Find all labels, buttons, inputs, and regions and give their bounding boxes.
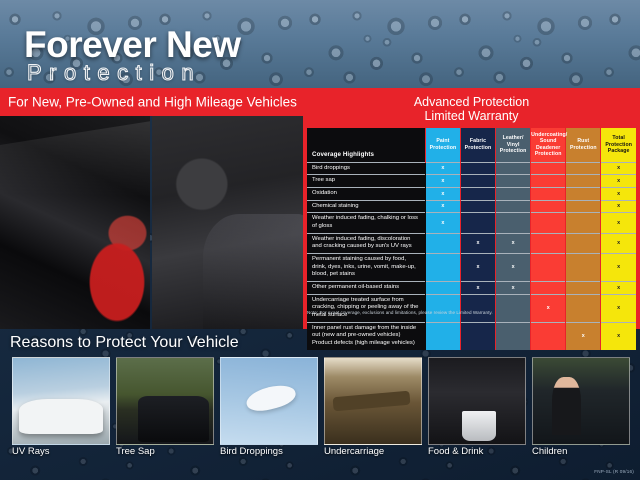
coverage-row-label: Permanent staining caused by food, drink… bbox=[307, 253, 425, 281]
col-header-rust-protection: Rust Protection bbox=[566, 128, 601, 162]
coverage-cell-fabric bbox=[460, 294, 495, 322]
coverage-cell-total: x bbox=[601, 187, 636, 200]
coverage-row: Tree sapxx bbox=[307, 175, 636, 188]
coverage-row-label: Tree sap bbox=[307, 175, 425, 188]
coverage-cell-fabric: x bbox=[460, 281, 495, 294]
coverage-cell-paint: x bbox=[425, 162, 460, 175]
coverage-row-label: Weather induced fading, chalking or loss… bbox=[307, 213, 425, 233]
coverage-row: Permanent staining caused by food, drink… bbox=[307, 253, 636, 281]
coverage-header-row: Coverage Highlights Paint Protection Fab… bbox=[307, 128, 636, 162]
col-header-leather-vinyl-protection: Leather/ Vinyl Protection bbox=[496, 128, 531, 162]
coverage-cell-paint: x bbox=[425, 200, 460, 213]
coverage-cell-under bbox=[531, 233, 566, 253]
coverage-cell-under bbox=[531, 187, 566, 200]
coverage-cell-rust bbox=[566, 175, 601, 188]
vehicle-photo-strip bbox=[0, 116, 303, 329]
coverage-cell-total: x bbox=[601, 175, 636, 188]
caption-children: Children bbox=[532, 446, 630, 462]
thumbnail-undercarriage bbox=[324, 357, 422, 445]
coverage-row-label: Chemical staining bbox=[307, 200, 425, 213]
warranty-note: Note: For exact coverage, exclusions and… bbox=[307, 310, 637, 315]
reasons-heading: Reasons to Protect Your Vehicle bbox=[10, 334, 239, 352]
coverage-table-body: Bird droppingsxxTree sapxxOxidationxxChe… bbox=[307, 162, 636, 350]
coverage-row-label: Bird droppings bbox=[307, 162, 425, 175]
coverage-cell-paint bbox=[425, 233, 460, 253]
caption-food-and-drink: Food & Drink bbox=[428, 446, 526, 462]
coverage-cell-leather bbox=[496, 187, 531, 200]
coverage-cell-fabric bbox=[460, 213, 495, 233]
coverage-table-head: Coverage Highlights Paint Protection Fab… bbox=[307, 128, 636, 162]
coverage-row-label: Undercarriage treated surface from crack… bbox=[307, 294, 425, 322]
coverage-cell-leather bbox=[496, 200, 531, 213]
thumbnail-bird-droppings bbox=[220, 357, 318, 445]
coverage-cell-paint bbox=[425, 294, 460, 322]
coverage-cell-rust bbox=[566, 294, 601, 322]
warranty-title: Advanced Protection Limited Warranty bbox=[307, 93, 636, 128]
coverage-row: Inner panel rust damage from the inside … bbox=[307, 322, 636, 350]
warranty-panel: Advanced Protection Limited Warranty Cov… bbox=[303, 88, 640, 329]
coverage-cell-fabric: x bbox=[460, 253, 495, 281]
coverage-cell-paint: x bbox=[425, 213, 460, 233]
vehicles-banner-text: For New, Pre-Owned and High Mileage Vehi… bbox=[8, 95, 297, 110]
coverage-cell-total: x bbox=[601, 162, 636, 175]
coverage-cell-total: x bbox=[601, 281, 636, 294]
marketing-flyer-page: Forever New Protection For New, Pre-Owne… bbox=[0, 0, 640, 480]
coverage-row-label: Other permanent oil-based stains bbox=[307, 281, 425, 294]
car-interior-photo bbox=[152, 116, 303, 329]
thumbnail-uv-rays bbox=[12, 357, 110, 445]
coverage-cell-paint bbox=[425, 253, 460, 281]
coverage-cell-fabric bbox=[460, 322, 495, 350]
coverage-cell-leather: x bbox=[496, 233, 531, 253]
caption-bird-droppings: Bird Droppings bbox=[220, 446, 318, 462]
coverage-row-label: Inner panel rust damage from the inside … bbox=[307, 322, 425, 350]
col-header-coverage-highlights: Coverage Highlights bbox=[307, 128, 425, 162]
coverage-cell-fabric bbox=[460, 162, 495, 175]
coverage-cell-rust bbox=[566, 200, 601, 213]
coverage-cell-under: x bbox=[531, 294, 566, 322]
coverage-cell-under bbox=[531, 322, 566, 350]
footer-document-code: FNP-SL (R 09/16) bbox=[594, 469, 634, 474]
thumbnail-food-and-drink bbox=[428, 357, 526, 445]
warranty-title-line1: Advanced Protection bbox=[307, 95, 636, 109]
caption-uv-rays: UV Rays bbox=[12, 446, 110, 462]
coverage-row-label: Weather induced fading, discoloration an… bbox=[307, 233, 425, 253]
coverage-cell-leather bbox=[496, 162, 531, 175]
coverage-row: Undercarriage treated surface from crack… bbox=[307, 294, 636, 322]
coverage-row: Bird droppingsxx bbox=[307, 162, 636, 175]
thumbnail-children bbox=[532, 357, 630, 445]
col-header-paint-protection: Paint Protection bbox=[425, 128, 460, 162]
coverage-cell-leather: x bbox=[496, 281, 531, 294]
col-header-fabric-protection: Fabric Protection bbox=[460, 128, 495, 162]
coverage-cell-under bbox=[531, 213, 566, 233]
coverage-cell-under bbox=[531, 200, 566, 213]
coverage-row: Other permanent oil-based stainsxxx bbox=[307, 281, 636, 294]
coverage-row-label: Oxidation bbox=[307, 187, 425, 200]
coverage-cell-rust: x bbox=[566, 322, 601, 350]
coverage-cell-leather bbox=[496, 213, 531, 233]
coverage-cell-rust bbox=[566, 281, 601, 294]
coverage-cell-leather bbox=[496, 322, 531, 350]
brand-subtitle: Protection bbox=[27, 62, 201, 84]
coverage-cell-fabric bbox=[460, 200, 495, 213]
coverage-cell-total: x bbox=[601, 233, 636, 253]
coverage-cell-rust bbox=[566, 233, 601, 253]
coverage-cell-under bbox=[531, 162, 566, 175]
coverage-cell-rust bbox=[566, 187, 601, 200]
col-header-total-protection-package: Total Protection Package bbox=[601, 128, 636, 162]
coverage-cell-leather bbox=[496, 294, 531, 322]
coverage-row: Weather induced fading, discoloration an… bbox=[307, 233, 636, 253]
coverage-row: Weather induced fading, chalking or loss… bbox=[307, 213, 636, 233]
brand-title: Forever New bbox=[24, 26, 241, 63]
caption-tree-sap: Tree Sap bbox=[116, 446, 214, 462]
coverage-cell-paint: x bbox=[425, 187, 460, 200]
col-header-undercoating-protection: Undercoating/ Sound Deadener Protection bbox=[531, 128, 566, 162]
coverage-cell-leather bbox=[496, 175, 531, 188]
reasons-caption-row: UV Rays Tree Sap Bird Droppings Undercar… bbox=[12, 446, 630, 462]
warranty-title-line2: Limited Warranty bbox=[307, 109, 636, 123]
coverage-row: Chemical stainingxx bbox=[307, 200, 636, 213]
hero-banner: Forever New Protection bbox=[0, 0, 640, 88]
thumbnail-tree-sap bbox=[116, 357, 214, 445]
coverage-cell-rust bbox=[566, 162, 601, 175]
coverage-table: Coverage Highlights Paint Protection Fab… bbox=[307, 128, 636, 350]
coverage-cell-under bbox=[531, 281, 566, 294]
caption-undercarriage: Undercarriage bbox=[324, 446, 422, 462]
coverage-cell-rust bbox=[566, 213, 601, 233]
coverage-cell-under bbox=[531, 175, 566, 188]
coverage-cell-fabric: x bbox=[460, 233, 495, 253]
coverage-cell-under bbox=[531, 253, 566, 281]
coverage-cell-fabric bbox=[460, 175, 495, 188]
car-exterior-photo bbox=[0, 116, 150, 329]
coverage-cell-fabric bbox=[460, 187, 495, 200]
coverage-cell-leather: x bbox=[496, 253, 531, 281]
reasons-thumbnail-row bbox=[12, 357, 630, 445]
coverage-cell-total: x bbox=[601, 200, 636, 213]
coverage-cell-paint bbox=[425, 322, 460, 350]
coverage-row: Oxidationxx bbox=[307, 187, 636, 200]
coverage-cell-total: x bbox=[601, 253, 636, 281]
coverage-cell-total: x bbox=[601, 213, 636, 233]
coverage-cell-total: x bbox=[601, 294, 636, 322]
coverage-cell-paint: x bbox=[425, 175, 460, 188]
coverage-cell-total: x bbox=[601, 322, 636, 350]
coverage-cell-paint bbox=[425, 281, 460, 294]
coverage-cell-rust bbox=[566, 253, 601, 281]
